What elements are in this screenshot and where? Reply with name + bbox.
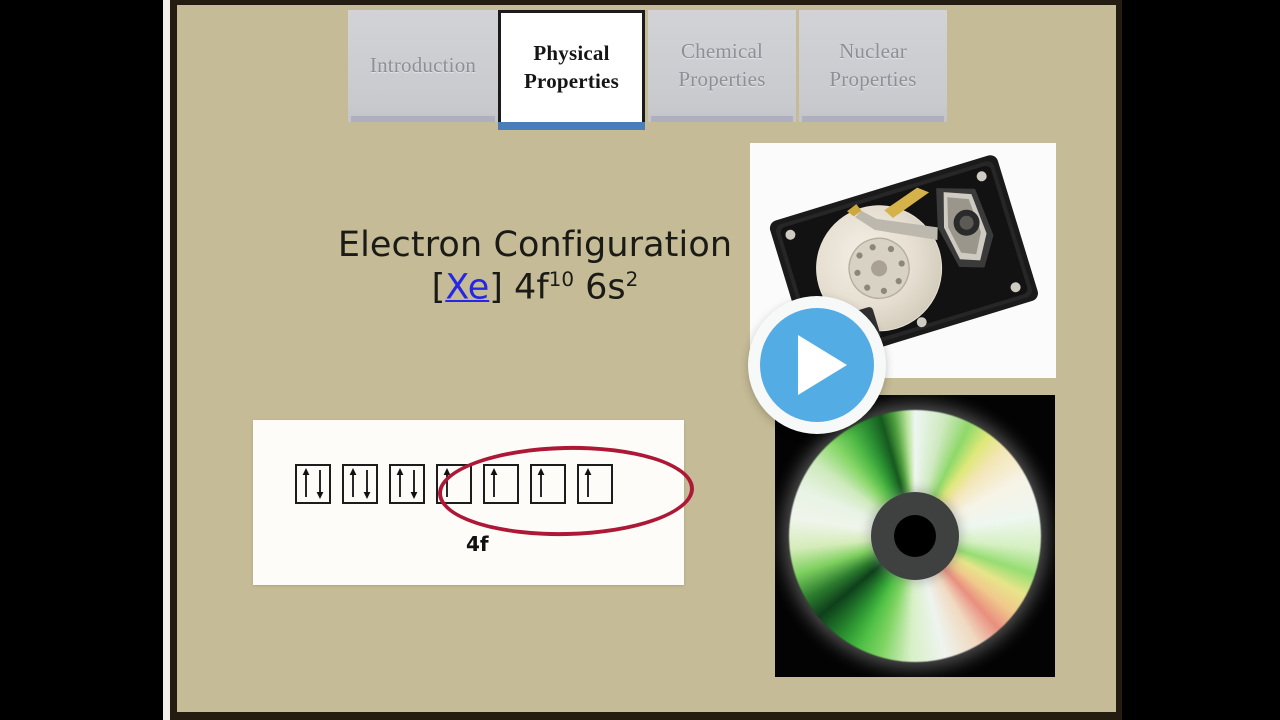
orbital-box-unpaired <box>530 464 566 504</box>
config-superscript-1: 10 <box>549 267 574 291</box>
orbital-box-paired <box>295 464 331 504</box>
up-arrow-icon <box>579 466 611 502</box>
electron-configuration-heading: Electron Configuration <box>275 227 795 265</box>
electron-configuration-block: Electron Configuration [Xe] 4f10 6s2 <box>275 227 795 307</box>
electron-configuration-value: [Xe] 4f10 6s2 <box>275 269 795 307</box>
orbital-subshell-label: 4f <box>466 532 489 556</box>
tab-active-underline <box>498 122 645 130</box>
xenon-link[interactable]: Xe <box>445 267 489 307</box>
tab-chemical-properties[interactable]: Chemical Properties <box>648 10 796 122</box>
orbital-box-paired <box>389 464 425 504</box>
up-arrow-icon <box>532 466 564 502</box>
tab-introduction[interactable]: Introduction <box>348 10 498 122</box>
video-frame: Introduction Physical Properties Chemica… <box>0 0 1280 720</box>
tab-nuclear-properties[interactable]: Nuclear Properties <box>799 10 947 122</box>
play-button[interactable] <box>748 296 886 434</box>
orbital-box-unpaired <box>577 464 613 504</box>
bracket-open: [ <box>432 267 446 307</box>
tab-introduction-label: Introduction <box>360 52 486 80</box>
tab-physical-properties-label: Physical Properties <box>514 40 629 95</box>
config-superscript-2: 2 <box>626 267 639 291</box>
tab-chemical-properties-label: Chemical Properties <box>668 38 775 93</box>
up-arrow-icon <box>438 466 470 502</box>
orbital-box-row <box>295 464 613 504</box>
letterbox-right <box>1122 0 1280 720</box>
up-arrow-icon <box>485 466 517 502</box>
tab-underline <box>802 116 944 122</box>
compact-disc-photo <box>775 395 1055 677</box>
tab-bar: Introduction Physical Properties Chemica… <box>348 10 948 130</box>
paired-arrows-icon <box>344 466 376 502</box>
paired-arrows-icon <box>297 466 329 502</box>
orbital-diagram-panel: 4f <box>253 420 684 585</box>
tab-nuclear-properties-label: Nuclear Properties <box>819 38 926 93</box>
config-text-2: 6s <box>574 267 626 307</box>
orbital-box-unpaired <box>436 464 472 504</box>
orbital-box-unpaired <box>483 464 519 504</box>
orbital-box-paired <box>342 464 378 504</box>
compact-disc-center-hole <box>894 515 936 557</box>
tab-underline <box>351 116 495 122</box>
config-text-1: ] 4f <box>489 267 548 307</box>
tab-physical-properties[interactable]: Physical Properties <box>498 10 645 122</box>
play-icon <box>798 335 847 395</box>
play-button-circle <box>760 308 874 422</box>
white-rail <box>163 0 170 720</box>
paired-arrows-icon <box>391 466 423 502</box>
tab-underline <box>651 116 793 122</box>
letterbox-left <box>0 0 162 720</box>
presentation-slide: Introduction Physical Properties Chemica… <box>177 5 1116 712</box>
